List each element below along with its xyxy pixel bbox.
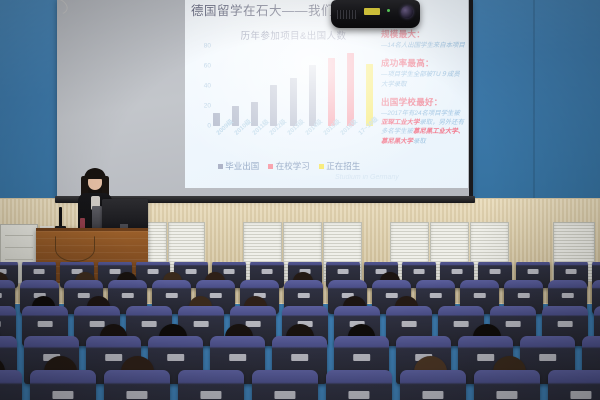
legend-label: 在校学习 — [276, 160, 310, 172]
chart-legend: 毕业出国在校学习正在招生 — [199, 160, 379, 172]
seat-number-tag — [348, 391, 369, 399]
chart-bar-column — [309, 46, 316, 126]
chart-bar-column — [290, 46, 297, 126]
chart-y-tick: 20 — [204, 103, 211, 110]
seat-number-tag — [561, 293, 573, 298]
seat-number-tag — [186, 269, 197, 273]
auditorium-seat — [548, 370, 600, 400]
seat-number-tag — [297, 293, 309, 298]
seat-number-tag — [385, 293, 397, 298]
seat-number-tag — [452, 269, 463, 273]
chart-legend-item: 毕业出国 — [218, 160, 260, 172]
seat-number-tag — [528, 269, 539, 273]
chart-legend-item: 正在招生 — [319, 160, 361, 172]
seat-number-tag — [209, 293, 221, 298]
seat-number-tag — [77, 293, 89, 298]
lecture-hall-photo: 德国留学在石大——我们 历年参加项目&出国人数 020406080 2009级2… — [0, 0, 600, 400]
slide-signature: Studium in Germany — [335, 174, 455, 184]
podium-hanging-cable — [55, 236, 95, 262]
chart-bar — [328, 58, 335, 126]
seat-number-tag — [490, 269, 501, 273]
chart-bar-column — [270, 46, 277, 126]
seat-number-tag — [229, 354, 247, 361]
note-schools-pre: —2017年有24名项目学生被 — [381, 110, 460, 117]
ceiling-projector — [331, 0, 420, 28]
chart-x-axis: 2009级2010级2011级2012级2013级2014级2015级2016级… — [213, 128, 373, 156]
audience-seating — [0, 262, 600, 400]
projector-tape-label — [364, 8, 380, 15]
auditorium-seat — [0, 370, 22, 400]
chart-bars — [213, 46, 373, 126]
auditorium-seat — [178, 370, 244, 400]
seat-number-tag — [539, 354, 557, 361]
auditorium-seat — [400, 370, 466, 400]
seat-number-tag — [570, 391, 591, 399]
seat-number-tag — [121, 293, 133, 298]
seat-number-tag — [167, 354, 185, 361]
seat-number-tag — [90, 321, 105, 327]
chart-bar-column — [347, 46, 354, 126]
chart-y-tick: 40 — [204, 83, 211, 90]
note-body-scale: —14名人出国学生来自本项目 — [381, 41, 465, 50]
seat-number-tag — [353, 354, 371, 361]
seat-number-tag — [0, 293, 2, 298]
seat-number-tag — [414, 269, 425, 273]
seat-number-tag — [148, 269, 159, 273]
chart-y-tick: 60 — [204, 63, 211, 70]
projector-power-led-icon — [387, 9, 390, 12]
projected-slide: 德国留学在石大——我们 历年参加项目&出国人数 020406080 2009级2… — [185, 0, 468, 188]
chart-title: 历年参加项目&出国人数 — [211, 28, 376, 42]
chart-bar-column — [213, 46, 220, 126]
seat-number-tag — [110, 269, 121, 273]
seat-number-tag — [142, 321, 157, 327]
seat-number-tag — [38, 321, 53, 327]
note-schools-post: 录取 — [413, 138, 426, 145]
screen-right-edge — [469, 0, 473, 198]
cabinet-line — [5, 235, 33, 236]
seat-number-tag — [274, 391, 295, 399]
seat-number-tag — [402, 321, 417, 327]
seat-number-tag — [34, 269, 45, 273]
auditorium-seat — [326, 370, 392, 400]
auditorium-seat — [474, 370, 540, 400]
auditorium-seat — [30, 370, 96, 400]
legend-label: 毕业出国 — [225, 160, 259, 172]
podium-pc-tower — [92, 206, 102, 230]
chart-bar-column — [232, 46, 239, 126]
seat-number-tag — [422, 391, 443, 399]
auditorium-seat — [252, 370, 318, 400]
projector-vent-icon — [337, 10, 357, 19]
note-heading-success: 成功率最高： — [381, 57, 465, 69]
legend-swatch-icon — [218, 164, 223, 169]
chart-legend-item: 在校学习 — [268, 160, 310, 172]
cabinet-line — [5, 259, 33, 260]
seat-number-tag — [566, 269, 577, 273]
seat-number-tag — [506, 321, 521, 327]
legend-label: 正在招生 — [326, 160, 360, 172]
seat-number-tag — [338, 269, 349, 273]
seat-number-tag — [291, 354, 309, 361]
seat-number-tag — [477, 354, 495, 361]
auditorium-seat — [104, 370, 170, 400]
chart-bar — [309, 65, 316, 126]
note-body-success: —项目学生全部被TU９成员大学录取 — [381, 70, 465, 89]
seat-number-tag — [105, 354, 123, 361]
legend-swatch-icon — [268, 164, 273, 169]
chart-y-tick: 80 — [204, 43, 211, 50]
seat-number-tag — [126, 391, 147, 399]
note-schools-highlight-rwth: 亚琛工业大学 — [381, 119, 419, 126]
seat-number-tag — [165, 293, 177, 298]
legend-swatch-icon — [319, 164, 324, 169]
seat-number-tag — [224, 269, 235, 273]
note-heading-scale: 规模最大： — [381, 28, 465, 40]
cabinet-line — [5, 247, 33, 248]
seat-number-tag — [262, 269, 273, 273]
audience-row — [0, 370, 600, 400]
chart-y-tick: 0 — [207, 123, 211, 130]
seat-number-tag — [473, 293, 485, 298]
note-body-schools: —2017年有24名项目学生被亚琛工业大学录取，另外还有多名学生被慕尼黑工业大学… — [381, 109, 465, 146]
wall-seam — [533, 0, 535, 200]
seat-number-tag — [429, 293, 441, 298]
seat-number-tag — [454, 321, 469, 327]
note-heading-schools: 出国学校最好： — [381, 96, 465, 108]
seat-number-tag — [52, 391, 73, 399]
seat-number-tag — [194, 321, 209, 327]
chart-bar-column — [328, 46, 335, 126]
seat-number-tag — [558, 321, 573, 327]
seat-number-tag — [200, 391, 221, 399]
chart-bar — [347, 53, 354, 126]
slide-notes: 规模最大： —14名人出国学生来自本项目 成功率最高： —项目学生全部被TU９成… — [381, 28, 465, 153]
seat-number-tag — [517, 293, 529, 298]
projector-lens-icon — [401, 6, 413, 18]
chart-bar-column — [251, 46, 258, 126]
chart-plot-area: 020406080 — [213, 46, 373, 126]
bar-chart: 历年参加项目&出国人数 020406080 2009级2010级2011级201… — [189, 28, 379, 183]
seat-number-tag — [496, 391, 517, 399]
